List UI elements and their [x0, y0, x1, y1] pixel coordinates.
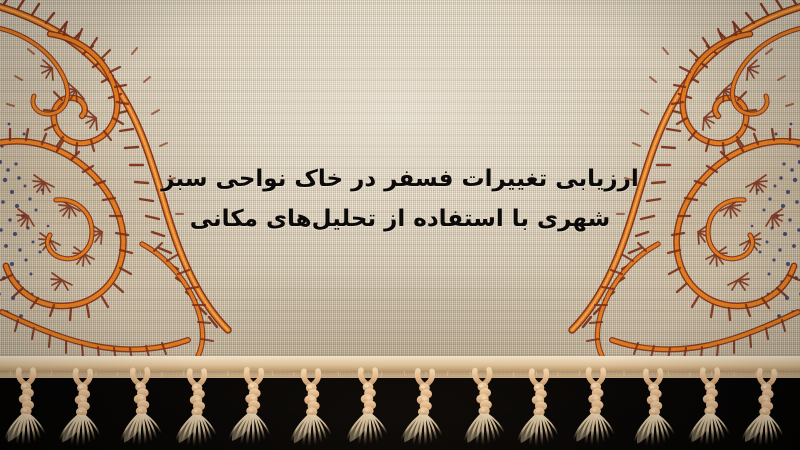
cloth-hem [0, 352, 800, 378]
title-line-2: شهری با استفاده از تحلیل‌های مکانی [150, 200, 650, 240]
page-title: ارزیابی تغییرات فسفر در خاک نواحی سبز شه… [150, 160, 650, 239]
linen-cloth: ارزیابی تغییرات فسفر در خاک نواحی سبز شه… [0, 0, 800, 378]
title-line-1: ارزیابی تغییرات فسفر در خاک نواحی سبز [150, 160, 650, 200]
title-card-image: ارزیابی تغییرات فسفر در خاک نواحی سبز شه… [0, 0, 800, 450]
